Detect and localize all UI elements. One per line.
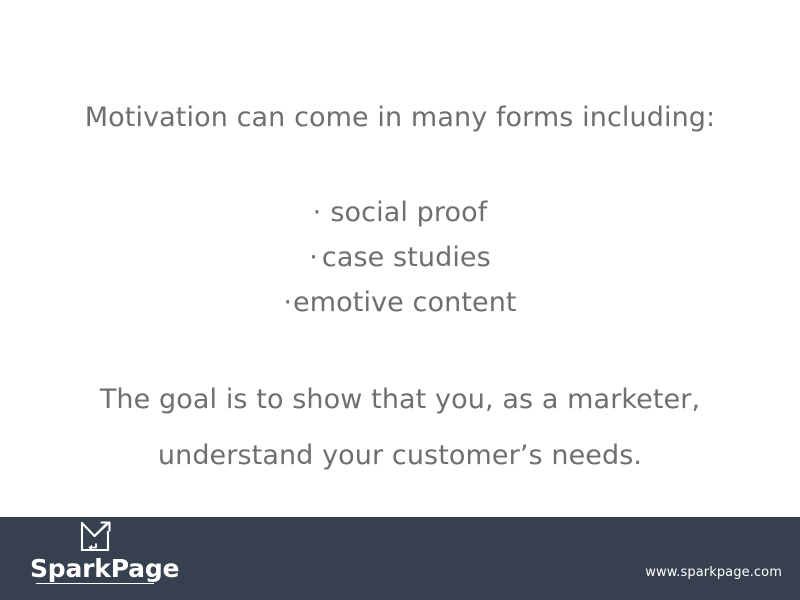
envelope-arrow-icon	[77, 521, 113, 554]
list-item: ·case studies	[0, 235, 800, 280]
closing-paragraph: The goal is to show that you, as a marke…	[0, 372, 800, 484]
page-title: Motivation can come in many forms includ…	[0, 101, 800, 135]
footer-bar: SparkPage www.sparkpage.com	[0, 517, 800, 600]
brand-logo: SparkPage	[30, 521, 160, 584]
closing-line-2: understand your customer’s needs.	[0, 428, 800, 484]
bullet-list: ·social proof ·case studies ·emotive con…	[0, 190, 800, 325]
list-item: ·social proof	[0, 190, 800, 235]
brand-underline	[36, 583, 154, 584]
slide: Motivation can come in many forms includ…	[0, 0, 800, 600]
bullet-marker-icon: ·	[313, 197, 322, 228]
list-item: ·emotive content	[0, 280, 800, 325]
closing-line-1: The goal is to show that you, as a marke…	[0, 372, 800, 428]
brand-name: SparkPage	[30, 555, 160, 583]
bullet-marker-icon: ·	[309, 242, 318, 273]
site-url[interactable]: www.sparkpage.com	[645, 565, 782, 580]
list-item-label: social proof	[330, 197, 487, 228]
bullet-marker-icon: ·	[283, 287, 292, 318]
list-item-label: emotive content	[293, 287, 517, 318]
slide-content: Motivation can come in many forms includ…	[0, 0, 800, 517]
list-item-label: case studies	[322, 242, 491, 273]
